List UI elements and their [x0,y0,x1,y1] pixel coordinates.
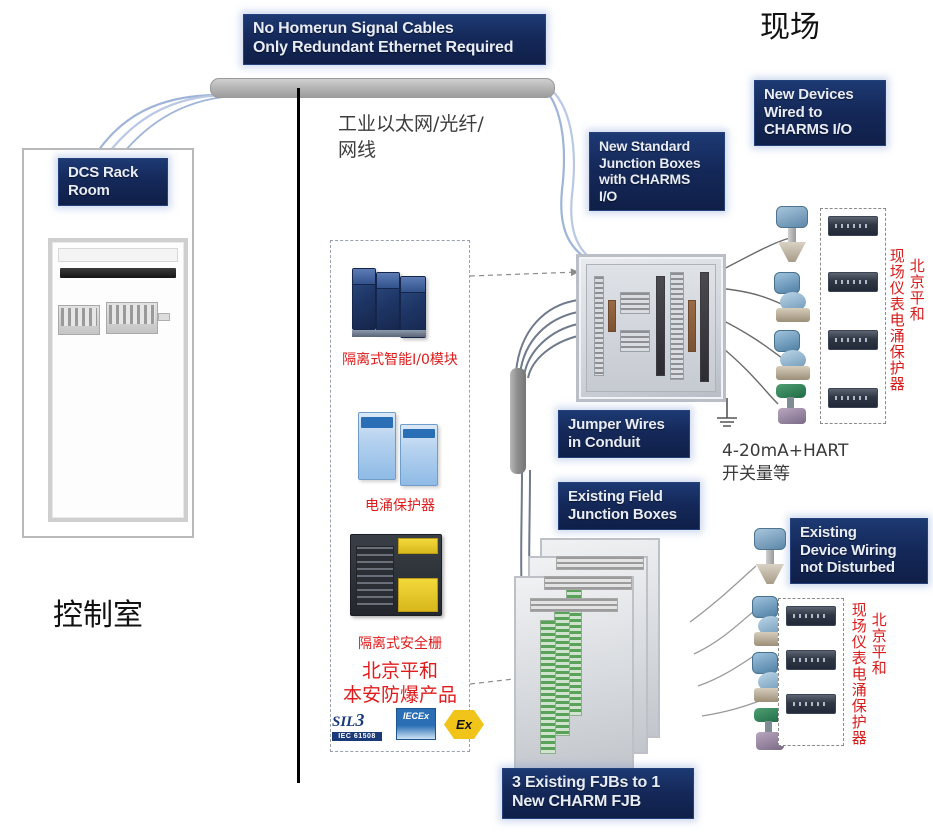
module-top-face [377,273,399,289]
field-spd-label-lower-col1: 现场仪表电涌保护器 [850,602,866,757]
field-spd-unit-l2 [786,650,836,670]
transmitter-stem [766,550,774,566]
cert-atex-main: Ex [456,717,472,732]
module-top-face [353,269,375,285]
valve-body [778,408,806,424]
io-module-graphic-b [376,272,400,334]
fjb-terminal-strip-front [530,598,618,612]
charms-rail-left [594,276,604,376]
cabinet-top-strip [58,248,178,262]
safety-barrier-yellow-terminals-top [398,538,438,554]
product-label-safety-barrier: 隔离式安全栅 [330,636,470,654]
io-module-graphic-c [400,276,426,338]
field-spd-label-upper-col1: 现场仪表电涌保护器 [888,248,904,398]
transmitter-head [752,596,778,618]
transmitter-head [752,652,778,674]
cert-badge-iecex: IECEx [396,708,436,740]
label-jumper-wires-in-conduit: Jumper Wires in Conduit [558,410,690,458]
surge-protector-graphic-b [400,424,438,486]
field-device-level-transmitter [770,206,814,262]
surge-protector-graphic-a [358,412,396,480]
module-head-band [361,417,393,428]
product-brand-name: 北京平和 本安防爆产品 [330,660,470,708]
cert-sil-standard: IEC 61508 [332,732,382,741]
field-spd-unit-u2 [828,272,878,292]
fjb-terminal-strip-middle [544,576,632,590]
network-backbone-label: 工业以太网/光纤/ 网线 [338,112,538,163]
cabinet-controller-card [60,268,176,278]
io-module-graphic-a [352,268,376,330]
ethernet-backbone-bar [210,78,555,98]
charms-rail-center-b [620,330,650,352]
cert-sil-level: 3 [355,710,364,730]
field-spd-unit-u4 [828,388,878,408]
label-existing-field-junction-boxes: Existing Field Junction Boxes [558,482,700,530]
cabinet-terminal-block-left [58,305,100,335]
label-no-homerun: No Homerun Signal Cables Only Redundant … [243,14,546,65]
field-device-control-valve [772,384,816,426]
zone-divider-spine [297,88,300,783]
charms-rail-center-a [620,292,650,314]
field-spd-label-upper-col2: 北京平和 [908,258,924,328]
charms-rail-brown-upper [608,300,616,332]
dcs-cabinet [48,238,188,522]
field-spd-unit-u3 [828,330,878,350]
terminal-teeth [61,308,97,326]
label-dcs-rack-room: DCS Rack Room [58,158,168,206]
valve-actuator [776,384,806,398]
transmitter-flange [778,242,806,262]
cabinet-terminal-block-right [106,302,158,334]
module-head-band [403,429,435,439]
label-fjb-consolidation: 3 Existing FJBs to 1 New CHARM FJB [502,768,694,819]
signal-type-note: 4-20mA+HART 开关量等 [722,440,892,486]
field-spd-unit-u1 [828,216,878,236]
transmitter-head [754,528,786,550]
conduit-tube [510,368,526,474]
fjb-green-terminal-strip-middle [554,598,570,736]
safety-barrier-face-detail [356,546,394,606]
charms-module-column [656,276,665,376]
transmitter-base [776,366,810,380]
charms-rail-brown-lower [688,300,696,352]
cert-iecex-main: IECEx [403,711,429,721]
terminal-teeth [109,305,155,324]
label-existing-device-wiring: Existing Device Wiring not Disturbed [790,518,928,584]
transmitter-stem [788,228,796,244]
field-device-flow-transmitter-2 [770,330,816,380]
zone-title-field: 现场 [760,10,820,46]
zone-title-control-room: 控制室 [53,598,143,634]
transmitter-head [776,206,808,228]
charms-jb-backplane [586,264,716,392]
charms-terminal-column [700,272,709,382]
charms-rail-right [670,272,684,380]
cert-badge-sil: SIL3 IEC 61508 [332,710,382,741]
module-top-face [401,277,425,293]
existing-device-level-transmitter [748,528,792,584]
diagram-canvas: No Homerun Signal Cables Only Redundant … [0,0,933,835]
field-device-flow-transmitter-1 [770,272,816,322]
io-module-terminal-strip [352,330,426,337]
product-label-surge-protector: 电涌保护器 [330,498,470,516]
field-spd-unit-l1 [786,606,836,626]
transmitter-head [774,330,800,352]
cabinet-terminal-nub [158,313,170,321]
transmitter-flange [756,564,784,584]
safety-barrier-yellow-terminals-bottom [398,578,438,612]
transmitter-head [774,272,800,294]
label-new-standard-junction-boxes: New Standard Junction Boxes with CHARMS … [589,132,725,211]
field-spd-label-lower-col2: 北京平和 [870,612,886,682]
field-spd-unit-l3 [786,694,836,714]
product-label-io-module: 隔离式智能I/0模块 [330,352,470,370]
transmitter-base [776,308,810,322]
fjb-green-terminal-strip-front [540,620,556,754]
fjb-terminal-strip-back [556,556,644,570]
label-new-devices-wired-to-charms: New Devices Wired to CHARMS I/O [754,80,886,146]
cert-sil-main: SIL [332,714,355,730]
